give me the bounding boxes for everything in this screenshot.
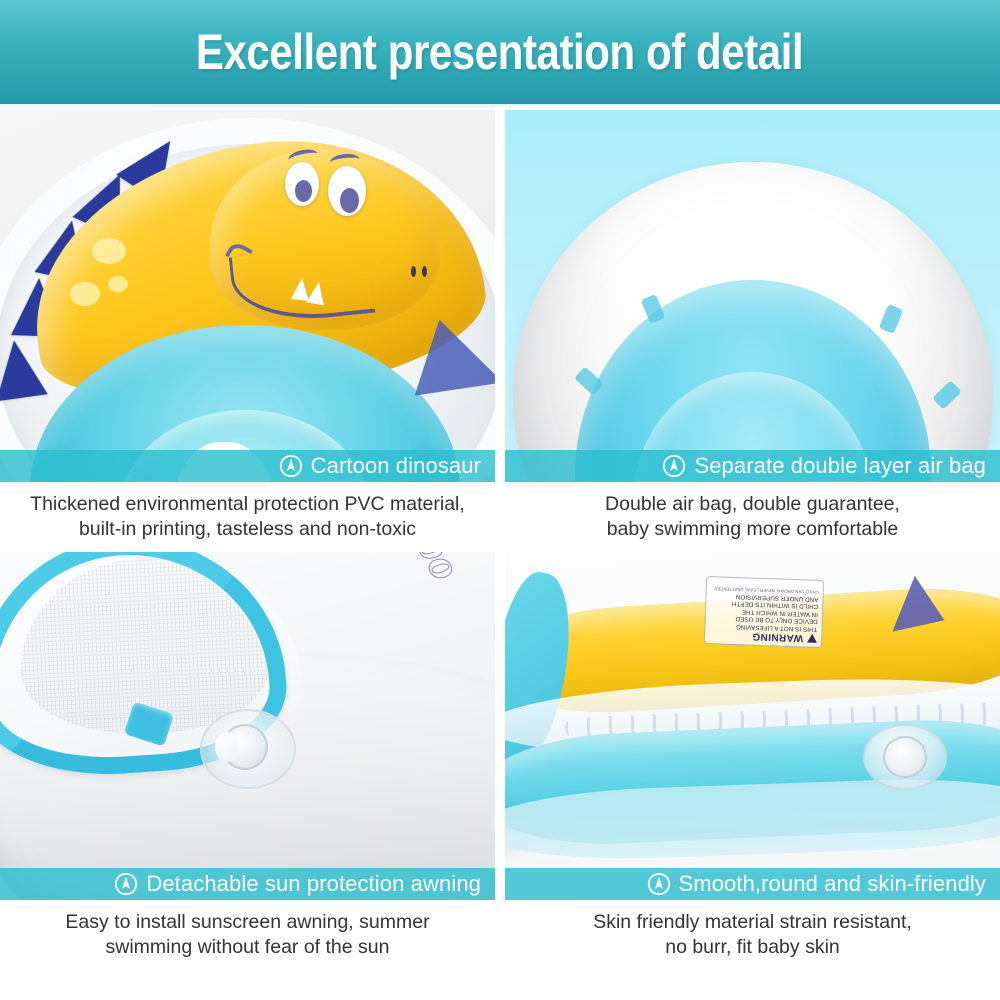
air-valve-inner bbox=[883, 736, 927, 778]
description-line-1: Easy to install sunscreen awning, summer bbox=[65, 911, 429, 933]
dinosaur-belly-spot bbox=[92, 238, 126, 264]
feature-cell-cartoon-dinosaur: Cartoon dinosaur Thickened environmental… bbox=[0, 110, 495, 552]
caption-bar-double-air-bag: Separate double layer air bag bbox=[505, 450, 1000, 482]
dinosaur-nostril bbox=[411, 266, 416, 277]
dinosaur-pupil-right bbox=[340, 188, 359, 213]
page-title: Excellent presentation of detail bbox=[196, 23, 803, 81]
description-line-1: Thickened environmental protection PVC m… bbox=[30, 493, 465, 515]
warning-title: WARNING bbox=[752, 631, 803, 644]
header-banner: Excellent presentation of detail bbox=[0, 0, 1000, 104]
photo-sun-awning: Swimbobo Detachable sun protection awnin… bbox=[0, 552, 495, 900]
description-skin-friendly: Skin friendly material strain resistant,… bbox=[505, 900, 1000, 960]
dinosaur-pupil-left bbox=[295, 180, 312, 202]
caption-bar-sun-awning: Detachable sun protection awning bbox=[0, 868, 495, 900]
caption-label: Detachable sun protection awning bbox=[146, 871, 481, 897]
compass-icon bbox=[662, 454, 686, 478]
caption-bar-skin-friendly: Smooth,round and skin-friendly bbox=[505, 868, 1000, 900]
compass-icon bbox=[647, 872, 671, 896]
feature-cell-sun-awning: Swimbobo Detachable sun protection awnin… bbox=[0, 552, 495, 1000]
feature-cell-double-air-bag: Separate double layer air bag Double air… bbox=[505, 110, 1000, 552]
description-line-2: built-in printing, tasteless and non-tox… bbox=[6, 517, 489, 542]
product-detail-infographic: Excellent presentation of detail bbox=[0, 0, 1000, 1000]
photo-double-air-bag: Separate double layer air bag bbox=[505, 110, 1000, 482]
dinosaur-tooth bbox=[306, 281, 328, 306]
description-cartoon-dinosaur: Thickened environmental protection PVC m… bbox=[0, 482, 495, 542]
compass-icon bbox=[114, 872, 138, 896]
description-line-1: Skin friendly material strain resistant, bbox=[593, 911, 912, 933]
dinosaur-belly-spot bbox=[70, 282, 100, 306]
description-sun-awning: Easy to install sunscreen awning, summer… bbox=[0, 900, 495, 960]
caption-bar-cartoon-dinosaur: Cartoon dinosaur bbox=[0, 450, 495, 482]
warning-label: WARNING THIS IS NOT A LIFESAVING DEVICE … bbox=[704, 576, 824, 648]
photo-cartoon-dinosaur: Cartoon dinosaur bbox=[0, 110, 495, 482]
caption-label: Separate double layer air bag bbox=[694, 453, 986, 479]
description-line-2: swimming without fear of the sun bbox=[6, 935, 489, 960]
caption-label: Cartoon dinosaur bbox=[311, 453, 481, 479]
warning-triangle-icon bbox=[807, 634, 817, 643]
compass-icon bbox=[279, 454, 303, 478]
air-valve-plug bbox=[215, 732, 239, 762]
description-line-2: no burr, fit baby skin bbox=[511, 935, 994, 960]
description-line-1: Double air bag, double guarantee, bbox=[605, 493, 900, 515]
dinosaur-nostril bbox=[422, 266, 427, 277]
description-double-air-bag: Double air bag, double guarantee, baby s… bbox=[505, 482, 1000, 542]
feature-grid: Cartoon dinosaur Thickened environmental… bbox=[0, 110, 1000, 1000]
photo-skin-friendly: WARNING THIS IS NOT A LIFESAVING DEVICE … bbox=[505, 552, 1000, 900]
dinosaur-belly-spot bbox=[108, 276, 128, 292]
header-underline bbox=[0, 104, 1000, 108]
feature-cell-skin-friendly: WARNING THIS IS NOT A LIFESAVING DEVICE … bbox=[505, 552, 1000, 1000]
description-line-2: baby swimming more comfortable bbox=[511, 517, 994, 542]
caption-label: Smooth,round and skin-friendly bbox=[679, 871, 987, 897]
